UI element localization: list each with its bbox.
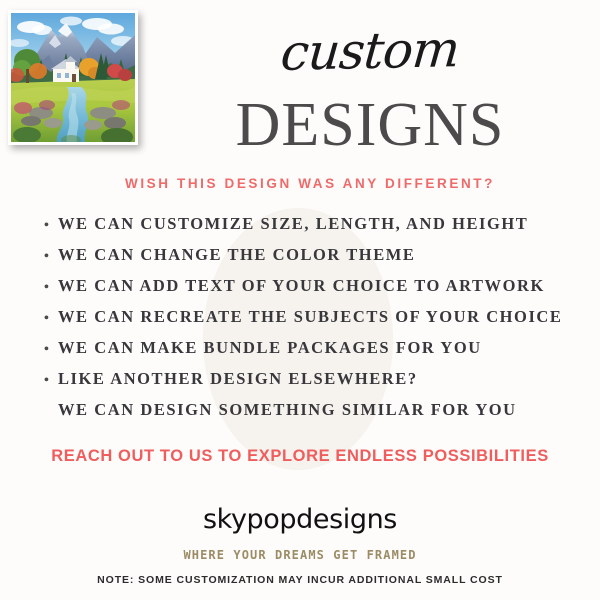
bullet-dot-icon: •: [44, 219, 58, 233]
bullet-dot-icon: •: [44, 374, 58, 388]
bullet-dot-icon: •: [44, 281, 58, 295]
list-item-label: WE CAN MAKE BUNDLE PACKAGES FOR YOU: [58, 338, 482, 358]
script-title: custom: [147, 21, 592, 80]
list-item-label: WE CAN CHANGE THE COLOR THEME: [58, 245, 415, 265]
footnote-disclaimer: NOTE: SOME CUSTOMIZATION MAY INCUR ADDIT…: [40, 574, 560, 586]
page-title: DESIGNS: [150, 94, 590, 156]
artwork-image: [11, 13, 135, 142]
list-item-label: WE CAN RECREATE THE SUBJECTS OF YOUR CHO…: [58, 307, 562, 327]
list-item: • WE CAN ADD TEXT OF YOUR CHOICE TO ARTW…: [44, 276, 584, 307]
framed-artwork[interactable]: [8, 10, 138, 145]
poster-canvas: custom DESIGNS WISH THIS DESIGN WAS ANY …: [0, 0, 600, 600]
list-item-label: LIKE ANOTHER DESIGN ELSEWHERE?: [58, 369, 418, 389]
list-item: • WE CAN MAKE BUNDLE PACKAGES FOR YOU: [44, 338, 584, 369]
brand-name: skypopdesigns: [100, 504, 500, 535]
call-to-action-text[interactable]: REACH OUT TO US TO EXPLORE ENDLESS POSSI…: [20, 447, 580, 466]
bullet-dot-icon: •: [44, 343, 58, 357]
bullet-dot-icon: •: [44, 250, 58, 264]
bullet-dot-icon: •: [44, 312, 58, 326]
brand-tagline: WHERE YOUR DREAMS GET FRAMED: [100, 548, 500, 562]
subtitle: WISH THIS DESIGN WAS ANY DIFFERENT?: [60, 176, 560, 191]
list-item-label: WE CAN DESIGN SOMETHING SIMILAR FOR YOU: [58, 400, 517, 420]
list-item-continuation: • WE CAN DESIGN SOMETHING SIMILAR FOR YO…: [44, 400, 584, 431]
list-item: • WE CAN CUSTOMIZE SIZE, LENGTH, AND HEI…: [44, 214, 584, 245]
feature-list: • WE CAN CUSTOMIZE SIZE, LENGTH, AND HEI…: [44, 214, 584, 431]
list-item: • LIKE ANOTHER DESIGN ELSEWHERE?: [44, 369, 584, 400]
list-item: • WE CAN RECREATE THE SUBJECTS OF YOUR C…: [44, 307, 584, 338]
list-item-label: WE CAN CUSTOMIZE SIZE, LENGTH, AND HEIGH…: [58, 214, 528, 234]
landscape-painting-svg: [11, 13, 135, 142]
list-item-label: WE CAN ADD TEXT OF YOUR CHOICE TO ARTWOR…: [58, 276, 545, 296]
list-item: • WE CAN CHANGE THE COLOR THEME: [44, 245, 584, 276]
